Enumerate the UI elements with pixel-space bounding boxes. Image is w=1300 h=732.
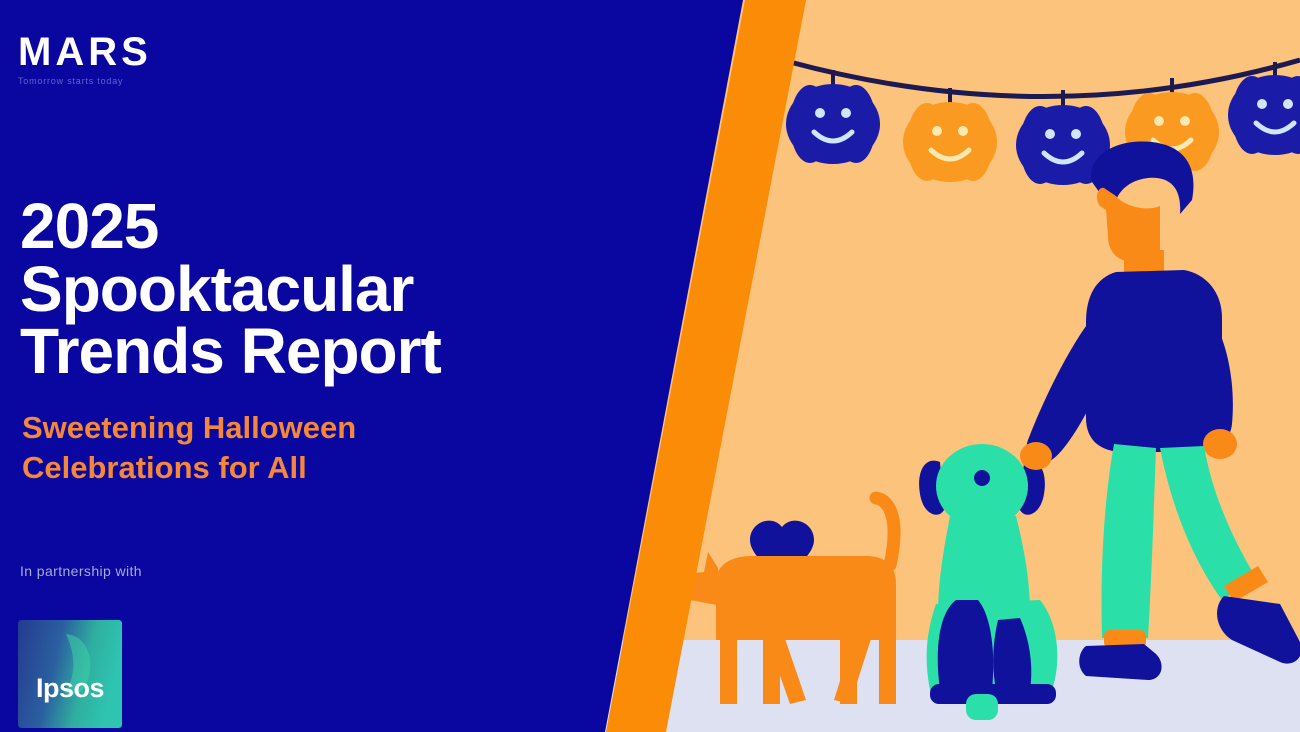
mars-logo: MARS Tomorrow starts today — [18, 32, 152, 86]
subhead-line-2: Celebrations for All — [22, 448, 356, 488]
headline-line-1: 2025 — [20, 195, 441, 258]
headline-line-2: Spooktacular — [20, 258, 441, 321]
slide-canvas: MARS Tomorrow starts today 2025 Spooktac… — [0, 0, 1300, 732]
mars-tagline: Tomorrow starts today — [18, 76, 152, 86]
partnership-label: In partnership with — [20, 563, 142, 579]
headline-line-3: Trends Report — [20, 320, 441, 383]
subhead-line-1: Sweetening Halloween — [22, 408, 356, 448]
page-subtitle: Sweetening Halloween Celebrations for Al… — [22, 408, 356, 487]
mars-wordmark: MARS — [18, 32, 152, 72]
ipsos-logo: Ipsos — [18, 620, 122, 728]
page-title: 2025 Spooktacular Trends Report — [20, 195, 441, 383]
ipsos-wordmark: Ipsos — [18, 673, 122, 704]
